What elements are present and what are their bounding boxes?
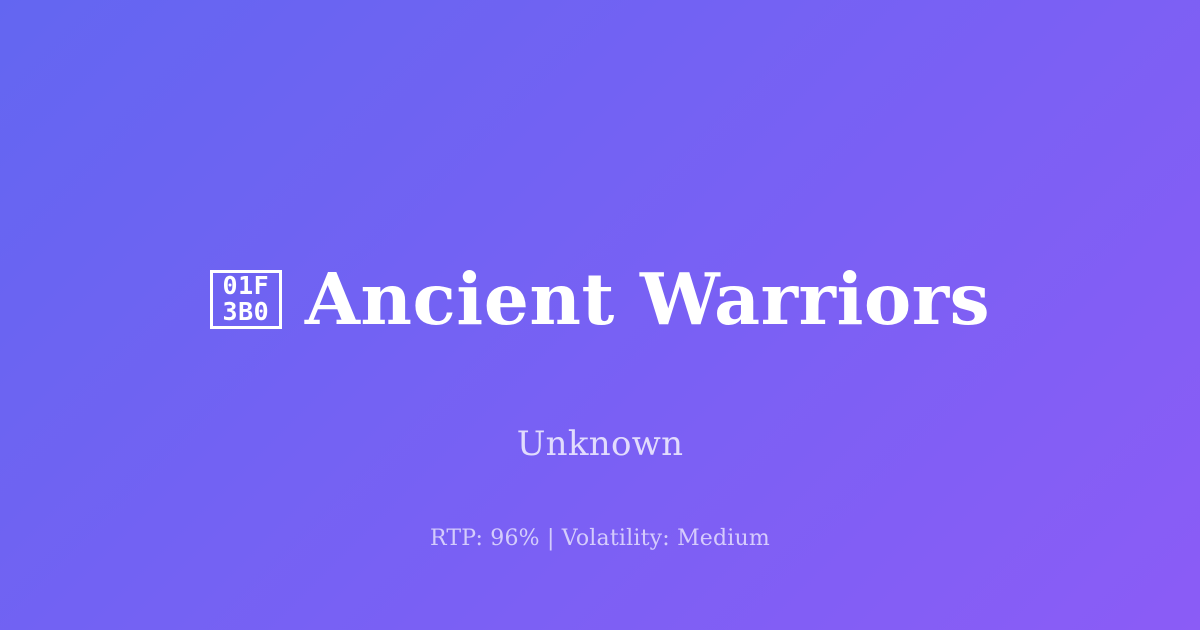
hero-block: 01F 3B0 Ancient Warriors Unknown bbox=[0, 216, 1200, 461]
game-preview-card: 01F 3B0 Ancient Warriors Unknown RTP: 96… bbox=[0, 0, 1200, 630]
game-provider: Unknown bbox=[517, 427, 684, 461]
codepoint-upper: 01F bbox=[223, 273, 270, 299]
title-row: 01F 3B0 Ancient Warriors bbox=[210, 216, 990, 382]
codepoint-lower: 3B0 bbox=[223, 299, 270, 325]
game-meta-line: RTP: 96% | Volatility: Medium bbox=[0, 528, 1200, 550]
slot-machine-icon: 01F 3B0 bbox=[210, 270, 282, 329]
game-title: Ancient Warriors bbox=[305, 264, 990, 335]
